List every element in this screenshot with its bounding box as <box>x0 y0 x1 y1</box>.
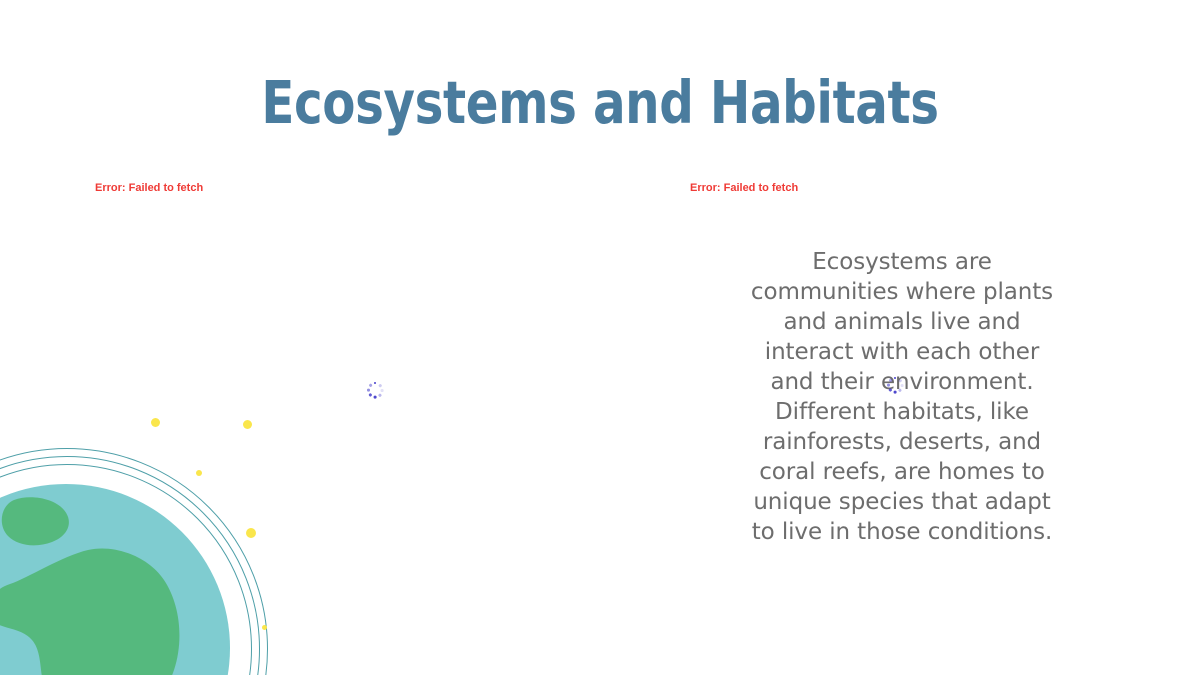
sparkle-dot-3 <box>196 470 202 476</box>
loading-spinner-icon <box>366 381 384 399</box>
sparkle-dot-2 <box>243 420 252 429</box>
loading-spinner-icon-secondary <box>886 376 904 394</box>
page-title: Ecosystems and Habitats <box>108 68 1092 138</box>
earth-illustration <box>0 462 300 675</box>
sparkle-dot-5 <box>262 625 267 630</box>
presentation-slide: Ecosystems and Habitats Error: Failed to… <box>0 0 1200 675</box>
error-message-right: Error: Failed to fetch <box>690 181 798 195</box>
sparkle-dot-1 <box>151 418 160 427</box>
error-message-left: Error: Failed to fetch <box>95 181 203 195</box>
body-paragraph: Ecosystems are communities where plants … <box>750 247 1054 547</box>
sparkle-dot-4 <box>246 528 256 538</box>
